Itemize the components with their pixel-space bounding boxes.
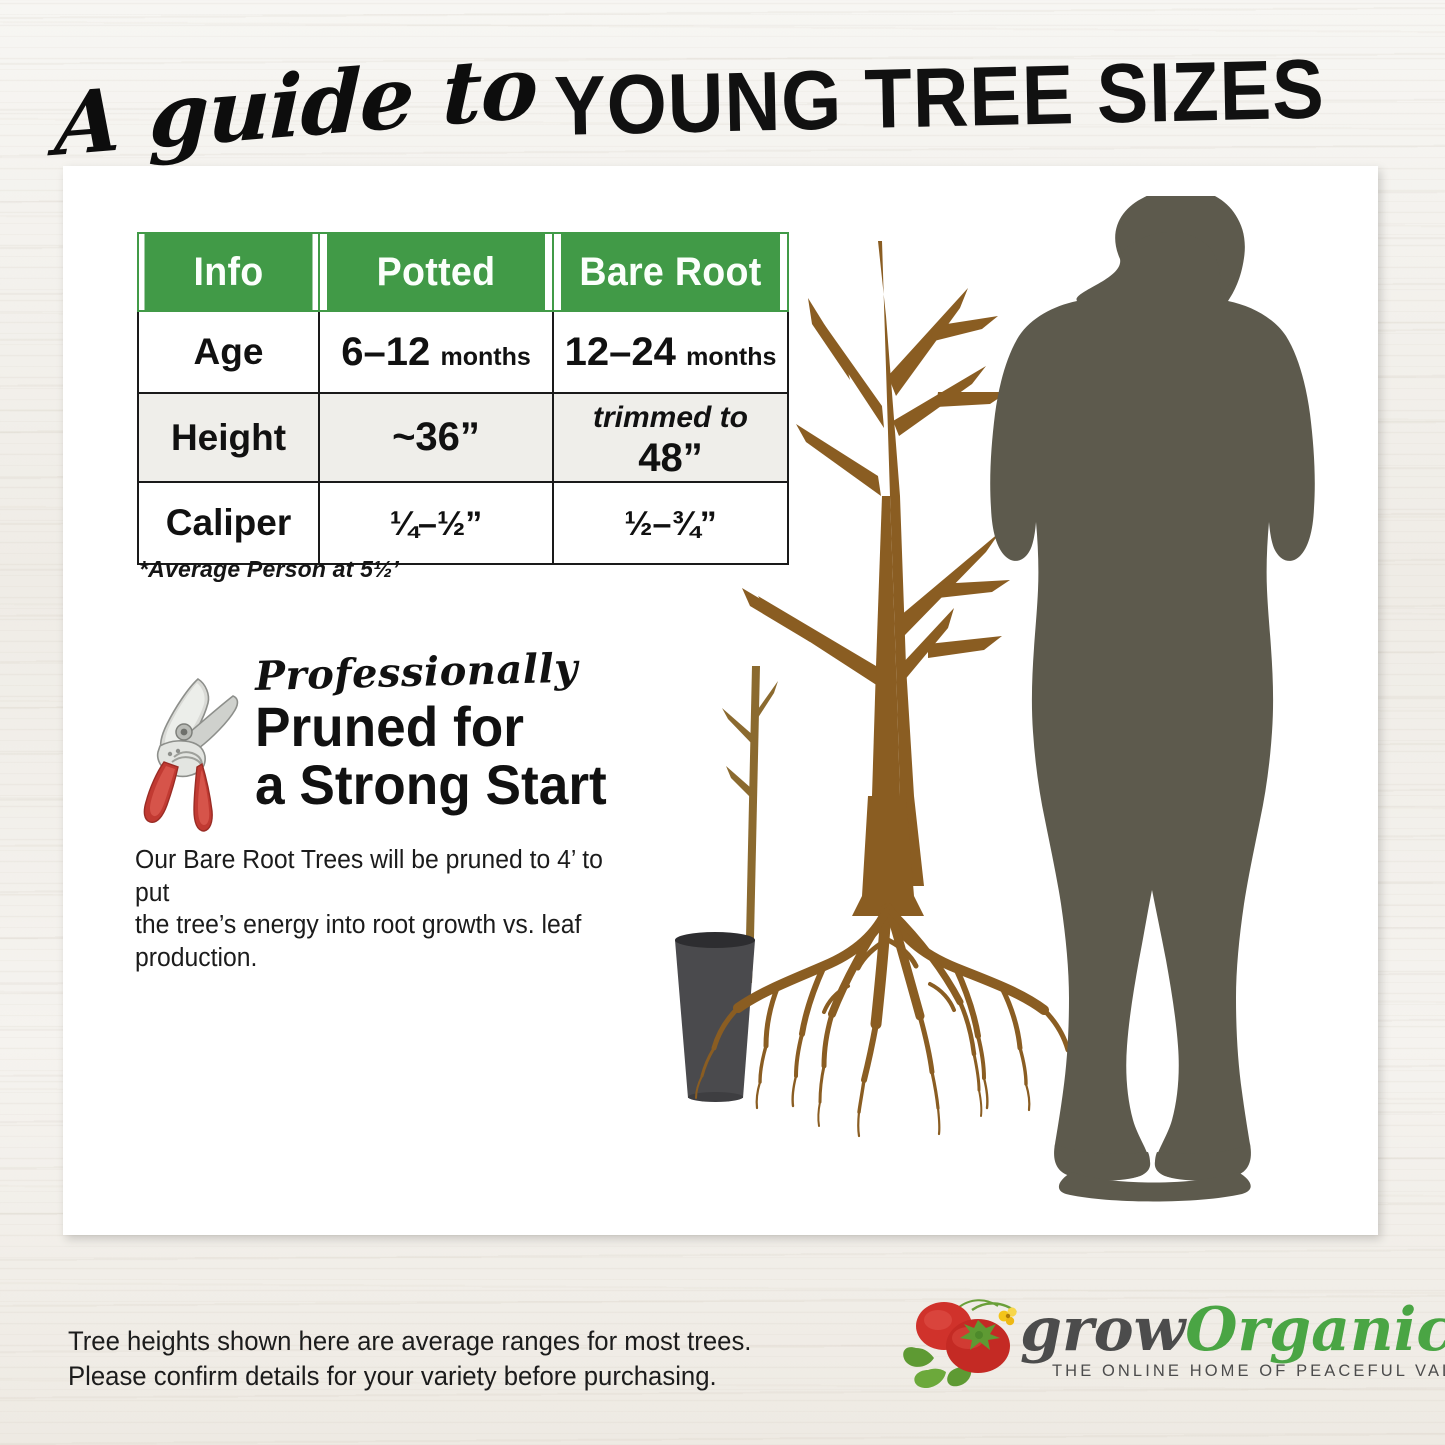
cell-height-potted-value: ~36” [392, 415, 480, 459]
illustration-group [638, 196, 1378, 1231]
pruned-headline-2: a Strong Start [255, 756, 654, 814]
row-label-age: Age [138, 311, 319, 393]
tomato-icon [900, 1296, 1030, 1388]
bare-root-tree-illustration [742, 241, 1010, 916]
logo-organic-text: Organic [1185, 1295, 1445, 1365]
page-title-script: A guide to [54, 47, 539, 167]
row-label-caliper: Caliper [138, 482, 319, 564]
page-title: A guide to YOUNG TREE SIZES [0, 52, 1445, 162]
footer-disclaimer: Tree heights shown here are average rang… [68, 1324, 751, 1394]
column-header-info: Info [143, 233, 313, 311]
cell-age-potted-value: 6–12 [341, 330, 430, 374]
table-footnote: *Average Person at 5½’ [139, 556, 399, 583]
pruned-body-line-2: the tree’s energy into root growth vs. l… [135, 909, 639, 974]
cell-height-potted: ~36” [319, 393, 553, 482]
cell-age-potted-unit: months [440, 343, 530, 371]
pruned-body-line-1: Our Bare Root Trees will be pruned to 4’… [135, 844, 639, 909]
grow-organic-logo[interactable]: growOrganic.COM THE ONLINE HOME OF PEACE… [900, 1296, 1400, 1411]
person-silhouette [990, 196, 1315, 1202]
column-header-potted: Potted [326, 233, 546, 311]
logo-grow-text: grow [1020, 1295, 1185, 1365]
cell-caliper-potted-value: ¼–½” [390, 505, 483, 543]
pruned-script-line: Professionally [254, 648, 578, 698]
pruned-body-text: Our Bare Root Trees will be pruned to 4’… [135, 844, 639, 975]
page-title-block: YOUNG TREE SIZES [553, 50, 1325, 147]
cell-caliper-potted: ¼–½” [319, 482, 553, 564]
row-label-height: Height [138, 393, 319, 482]
pruning-shears-icon [140, 662, 255, 837]
cell-age-potted: 6–12 months [319, 311, 553, 393]
pruned-script-line-wrap: Professionally [255, 656, 675, 698]
logo-tagline: THE ONLINE HOME OF PEACEFUL VALLEY [1052, 1362, 1445, 1381]
pruned-text-block: Professionally Pruned for a Strong Start [255, 656, 675, 814]
footer-disclaimer-line-2: Please confirm details for your variety … [68, 1359, 751, 1394]
content-card: Info Potted Bare Root Age 6–12 months 12… [63, 166, 1378, 1235]
pruned-headline-1: Pruned for [255, 698, 654, 756]
logo-wordmark: growOrganic.COM [1020, 1300, 1445, 1360]
potted-tree-illustration [675, 666, 778, 1102]
footer-disclaimer-line-1: Tree heights shown here are average rang… [68, 1324, 751, 1359]
